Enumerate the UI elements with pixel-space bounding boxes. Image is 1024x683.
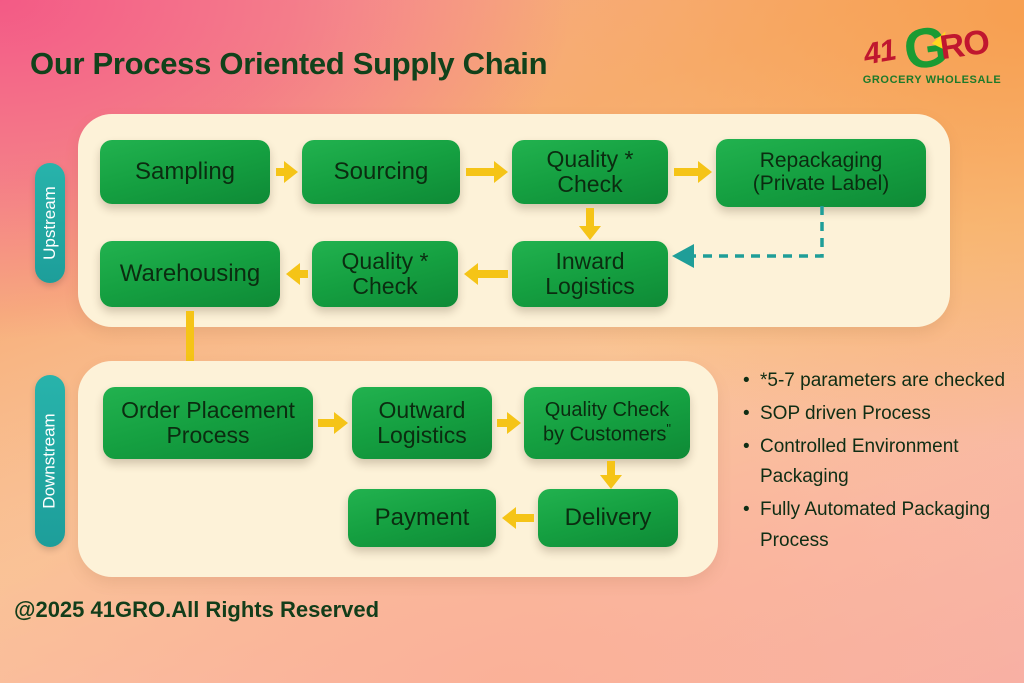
process-box-order-placement[interactable]: Order Placement Process xyxy=(103,387,313,459)
brand-logo: 41 G RO GROCERY WHOLESALE xyxy=(862,16,1002,92)
arrow-shaft xyxy=(466,168,496,176)
qc-customers-superscript: " xyxy=(666,421,671,436)
process-box-order-label: Order Placement Process xyxy=(121,398,295,448)
arrow-shaft xyxy=(674,168,700,176)
qc2-line2: Check xyxy=(352,273,417,299)
list-item: Controlled Environment Packaging xyxy=(760,432,1020,494)
upstream-label-text: Upstream xyxy=(40,186,60,260)
process-box-quality-check-by-customers[interactable]: Quality Check by Customers" xyxy=(524,387,690,459)
process-box-sampling[interactable]: Sampling xyxy=(100,140,270,204)
process-box-sourcing-label: Sourcing xyxy=(334,159,429,185)
process-box-warehousing-label: Warehousing xyxy=(120,261,261,287)
qc2-line1: Quality * xyxy=(342,248,429,274)
infographic-canvas: Our Process Oriented Supply Chain 41 G R… xyxy=(0,0,1024,683)
arrow-shaft xyxy=(514,514,534,522)
logo-text-41: 41 xyxy=(861,34,898,73)
arrow-head xyxy=(502,507,516,529)
repackaging-line1: Repackaging xyxy=(760,149,883,172)
arrow-head xyxy=(334,412,348,434)
list-item: *5-7 parameters are checked xyxy=(760,366,1020,397)
downstream-section-label: Downstream xyxy=(35,375,65,547)
outward-line2: Logistics xyxy=(377,422,466,448)
process-box-payment-label: Payment xyxy=(375,505,470,531)
process-box-qc-customers-label: Quality Check by Customers" xyxy=(543,400,671,446)
process-box-delivery-label: Delivery xyxy=(565,505,652,531)
process-box-inward-logistics[interactable]: Inward Logistics xyxy=(512,241,668,307)
order-line1: Order Placement xyxy=(121,397,295,423)
list-item: SOP driven Process xyxy=(760,399,1020,430)
qc1-line2: Check xyxy=(557,171,622,197)
upstream-section-label: Upstream xyxy=(35,163,65,283)
arrow-head xyxy=(286,263,300,285)
process-box-warehousing[interactable]: Warehousing xyxy=(100,241,280,307)
process-box-quality-check-upstream-1[interactable]: Quality * Check xyxy=(512,140,668,204)
logo-text-ro: RO xyxy=(938,23,992,68)
inward-line1: Inward xyxy=(555,248,624,274)
arrow-shaft xyxy=(478,270,508,278)
process-box-qc2-label: Quality * Check xyxy=(342,249,429,299)
arrow-head xyxy=(494,161,508,183)
logo-mark: 41 G RO xyxy=(862,16,1002,72)
arrow-head xyxy=(600,475,622,489)
process-box-repackaging-label: Repackaging (Private Label) xyxy=(753,150,890,195)
arrow-head xyxy=(579,226,601,240)
list-item: Fully Automated Packaging Process xyxy=(760,495,1020,557)
footer-copyright: @2025 41GRO.All Rights Reserved xyxy=(14,597,379,623)
notes-list: *5-7 parameters are checked SOP driven P… xyxy=(738,366,1020,559)
downstream-label-text: Downstream xyxy=(40,413,60,508)
qc-customers-line1: Quality Check xyxy=(545,399,670,421)
process-box-outward-label: Outward Logistics xyxy=(377,398,466,448)
arrow-shaft xyxy=(586,208,594,228)
arrow-head xyxy=(507,412,521,434)
process-box-delivery[interactable]: Delivery xyxy=(538,489,678,547)
qc-customers-line2: by Customers xyxy=(543,423,666,445)
qc1-line1: Quality * xyxy=(547,146,634,172)
process-box-quality-check-upstream-2[interactable]: Quality * Check xyxy=(312,241,458,307)
process-box-sourcing[interactable]: Sourcing xyxy=(302,140,460,204)
notes-list-items: *5-7 parameters are checked SOP driven P… xyxy=(738,366,1020,557)
arrow-head xyxy=(284,161,298,183)
process-box-inward-label: Inward Logistics xyxy=(545,249,634,299)
logo-tagline: GROCERY WHOLESALE xyxy=(862,74,1002,86)
process-box-sampling-label: Sampling xyxy=(135,159,235,185)
repackaging-line2: (Private Label) xyxy=(753,172,890,195)
page-title: Our Process Oriented Supply Chain xyxy=(30,46,547,82)
arrow-head xyxy=(698,161,712,183)
outward-line1: Outward xyxy=(379,397,466,423)
process-box-payment[interactable]: Payment xyxy=(348,489,496,547)
order-line2: Process xyxy=(166,422,249,448)
process-box-repackaging[interactable]: Repackaging (Private Label) xyxy=(716,139,926,207)
arrow-head xyxy=(464,263,478,285)
arrow-shaft xyxy=(300,270,308,278)
process-box-qc1-label: Quality * Check xyxy=(547,147,634,197)
process-box-outward-logistics[interactable]: Outward Logistics xyxy=(352,387,492,459)
inward-line2: Logistics xyxy=(545,273,634,299)
